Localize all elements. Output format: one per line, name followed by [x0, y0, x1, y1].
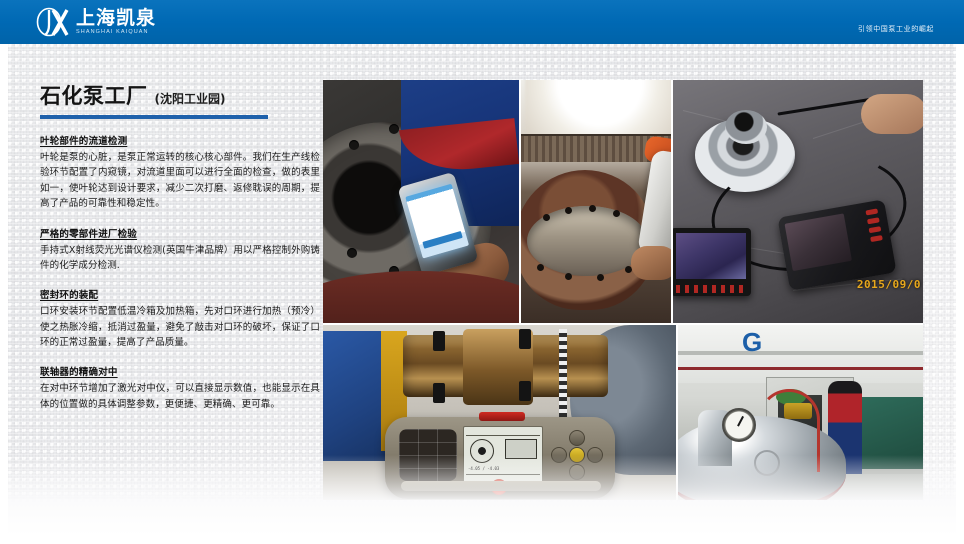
section-body: 在对中环节增加了激光对中仪，可以直接显示数值，也能显示在具体的位置做的具体调整参…: [40, 381, 320, 412]
section-heading: 严格的零部件进厂检验: [40, 226, 320, 240]
section-incoming-parts-inspection: 严格的零部件进厂检验 手持式X射线荧光光谱仪检测(英国牛津品牌）用以严格控制外购…: [40, 226, 320, 274]
content-text-column: 石化泵工厂 (沈阳工业园) 叶轮部件的流道检测 叶轮是泵的心脏，是泵正常运转的核…: [40, 80, 320, 412]
brand-logo[interactable]: 上海凯泉 SHANGHAI KAIQUAN: [36, 6, 156, 38]
kaiquan-logo-icon: [36, 7, 70, 37]
section-impeller-inspection: 叶轮部件的流道检测 叶轮是泵的心脏，是泵正常运转的核心核心部件。我们在生产线检验…: [40, 133, 320, 212]
photo-flange-inspection: [323, 80, 519, 323]
photo-grid: 2015/09/0: [323, 80, 923, 500]
logo-chinese-name: 上海凯泉: [76, 9, 156, 28]
page-title-sub: (沈阳工业园): [155, 90, 226, 107]
title-underline-rule: [40, 115, 268, 119]
section-body: 叶轮是泵的心脏，是泵正常运转的核心核心部件。我们在生产线检验环节配置了内窥镜，对…: [40, 150, 320, 212]
page-bottom-fade: [8, 455, 956, 536]
slide-root: 上海凯泉 SHANGHAI KAIQUAN 引领中国泵工业的崛起 石化泵工厂 (…: [0, 0, 964, 544]
section-seal-ring-assembly: 密封环的装配 口环安装环节配置低温冷箱及加热箱，先对口环进行加热（预冷）使之热胀…: [40, 287, 320, 350]
section-heading: 叶轮部件的流道检测: [40, 133, 320, 147]
section-heading: 密封环的装配: [40, 287, 320, 301]
section-body: 口环安装环节配置低温冷箱及加热箱，先对口环进行加热（预冷）使之热胀冷缩，抵消过盈…: [40, 304, 320, 350]
section-heading: 联轴器的精确对中: [40, 364, 320, 378]
photo-xrf-spectrometer: [521, 80, 671, 323]
logo-english-name: SHANGHAI KAIQUAN: [76, 30, 156, 36]
page-title-main: 石化泵工厂: [40, 80, 148, 110]
section-coupling-alignment: 联轴器的精确对中 在对中环节增加了激光对中仪，可以直接显示数值，也能显示在具体的…: [40, 364, 320, 412]
section-body: 手持式X射线荧光光谱仪检测(英国牛津品牌）用以严格控制外购铸件的化学成分检测.: [40, 243, 320, 274]
photo-endoscope-impeller: 2015/09/0: [673, 80, 923, 323]
page-title: 石化泵工厂 (沈阳工业园): [40, 80, 320, 110]
photo-timestamp-overlay: 2015/09/0: [857, 278, 921, 291]
header-bar: 上海凯泉 SHANGHAI KAIQUAN 引领中国泵工业的崛起: [0, 0, 964, 44]
header-tagline: 引领中国泵工业的崛起: [858, 24, 934, 34]
wall-letter-g: G: [742, 327, 762, 358]
